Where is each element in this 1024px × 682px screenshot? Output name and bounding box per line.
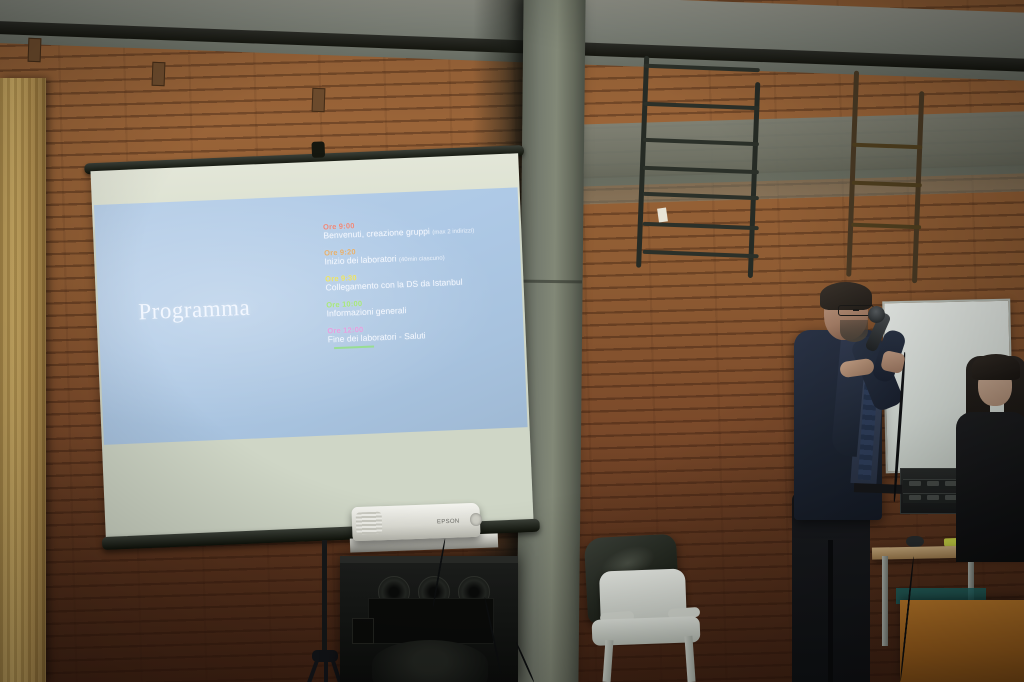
photo-vignette (0, 0, 1024, 682)
presentation-room-photo: Programma Ore 9:00 Benvenuti, creazione … (0, 0, 1024, 682)
